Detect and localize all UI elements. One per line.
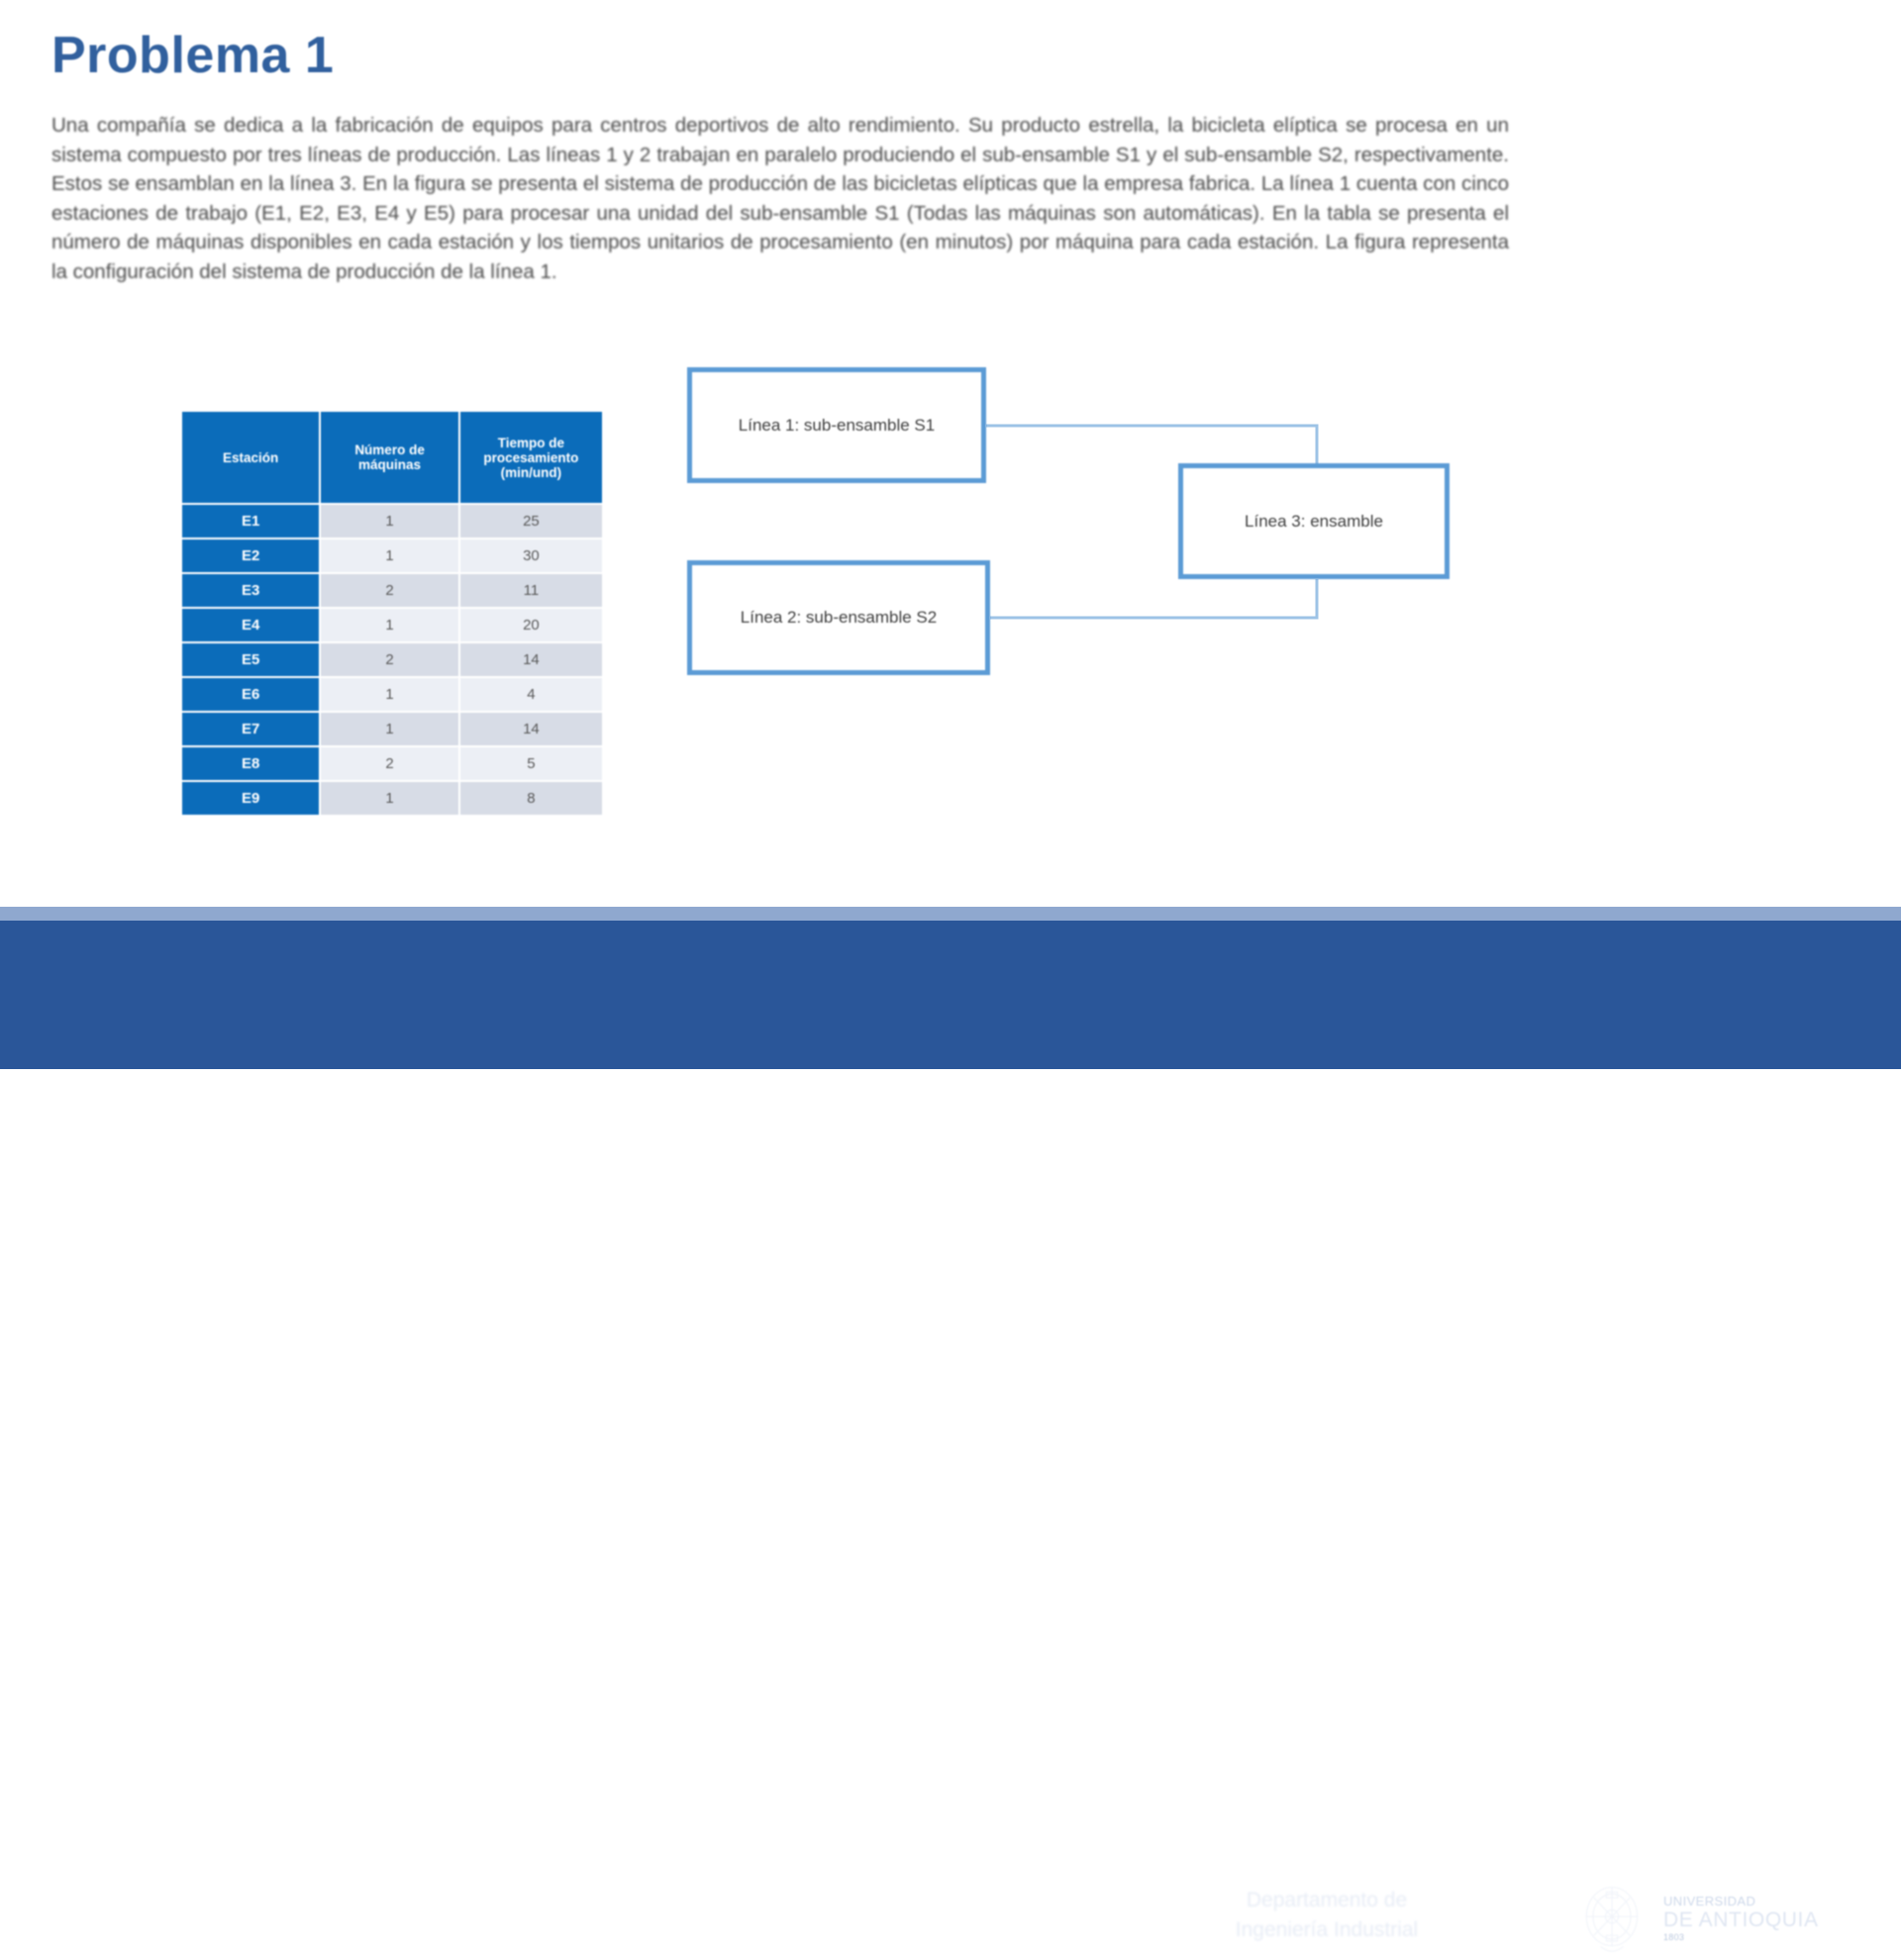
diagram-node-line3-label: Línea 3: ensamble [1245,512,1383,532]
university-logo-line2: DE ANTIOQUIA [1663,1909,1819,1932]
diagram-node-line1-label: Línea 1: sub-ensamble S1 [739,416,935,436]
connector-line2-to-line3 [990,579,1317,618]
university-logo-text: UNIVERSIDAD DE ANTIOQUIA 1803 [1663,1894,1819,1942]
university-logo: UNIVERSIDAD DE ANTIOQUIA 1803 [1574,1876,1871,1960]
process-flow-diagram: Línea 1: sub-ensamble S1 Línea 2: sub-en… [0,0,1901,921]
footer-department: Departamento de Ingeniería Industrial [1193,1886,1460,1945]
footer-department-line1: Departamento de [1193,1886,1460,1915]
connector-line1-to-line3 [986,426,1317,465]
footer-department-line2: Ingeniería Industrial [1193,1915,1460,1945]
university-logo-line1: UNIVERSIDAD [1663,1894,1819,1909]
university-logo-line3: 1803 [1663,1932,1819,1942]
footer-exercise-label: Ejercicios corte 1 [44,1911,249,1939]
diagram-node-line2[interactable]: Línea 2: sub-ensamble S2 [687,560,990,675]
diagram-node-line2-label: Línea 2: sub-ensamble S2 [741,608,937,628]
diagram-node-line1[interactable]: Línea 1: sub-ensamble S1 [687,367,986,483]
slide-footer: Ejercicios corte 1 Departamento de Ingen… [0,921,1901,1069]
footer-accent-bar [0,907,1901,921]
university-crest-icon [1574,1879,1650,1958]
diagram-node-line3[interactable]: Línea 3: ensamble [1178,463,1450,579]
slide-canvas: Problema 1 Una compañía se dedica a la f… [0,0,1901,921]
